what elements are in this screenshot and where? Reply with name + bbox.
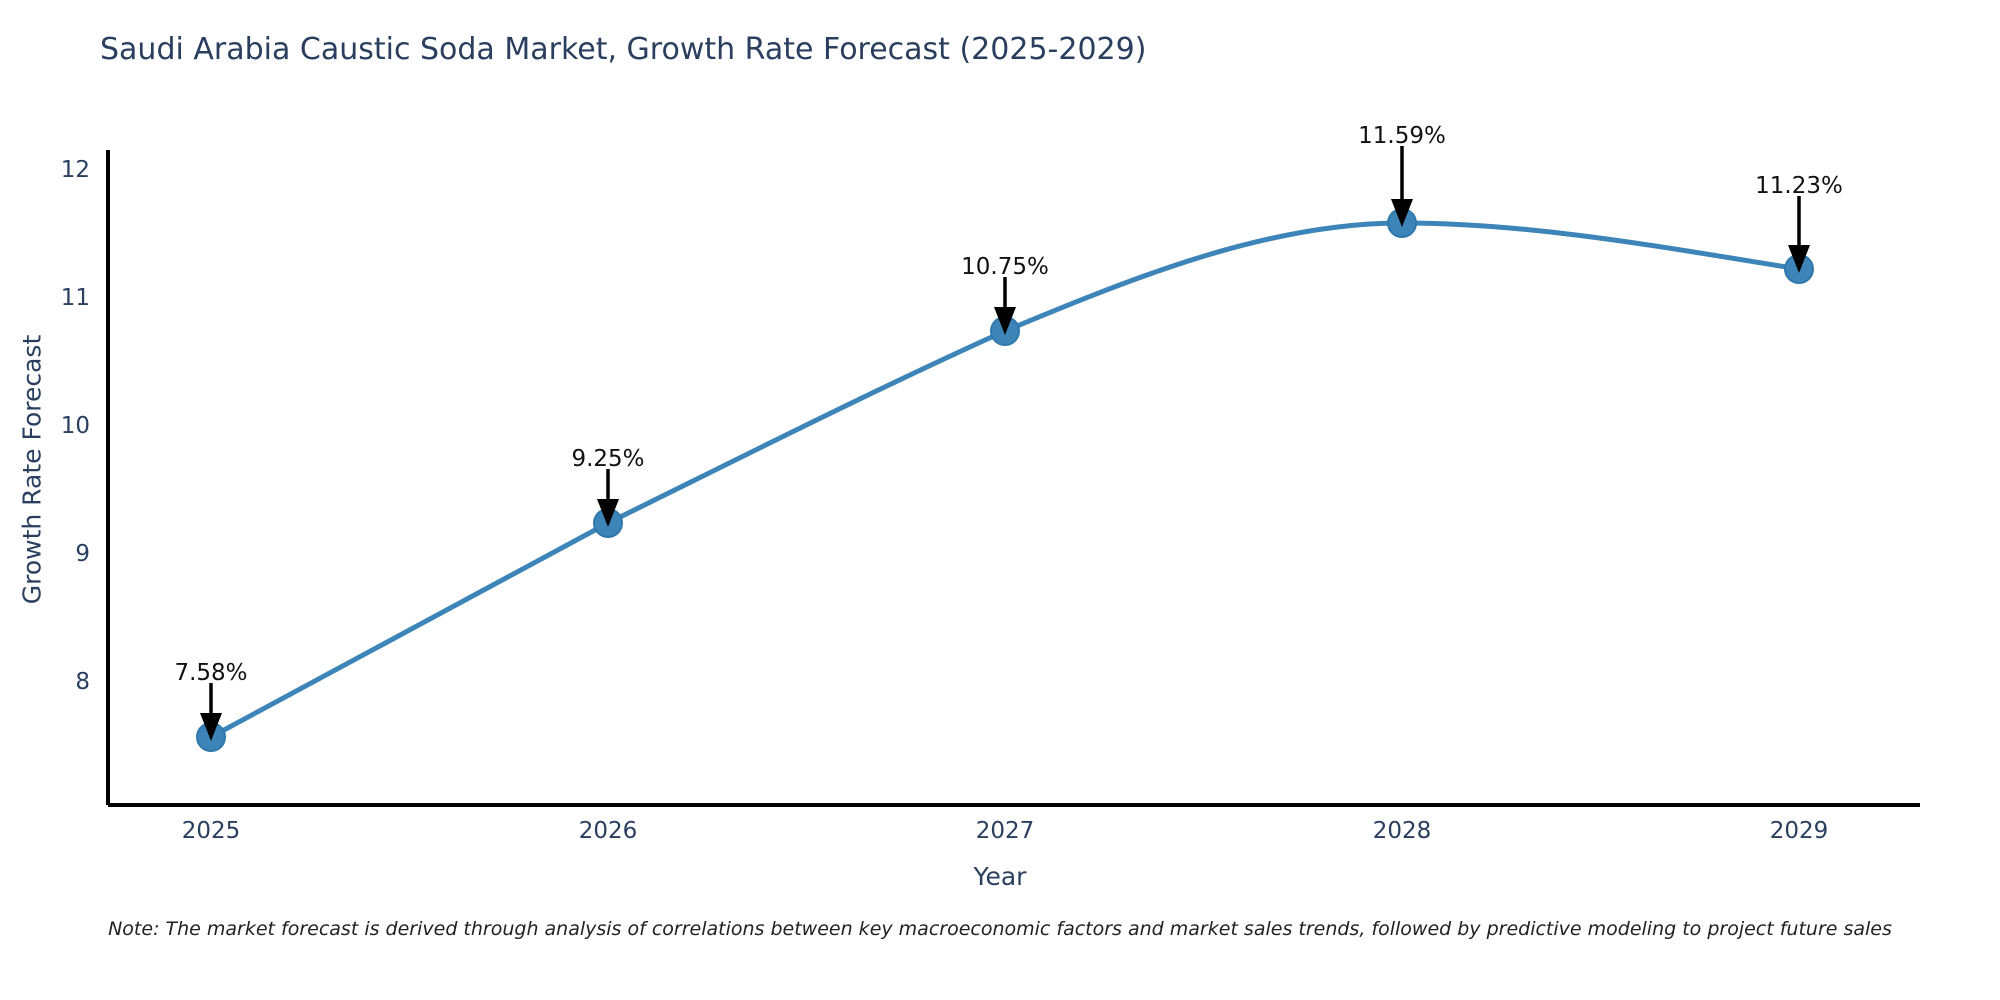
data-point-label: 11.59% [1358, 123, 1446, 149]
chart-figure: Saudi Arabia Caustic Soda Market, Growth… [0, 0, 2000, 1000]
x-axis-title: Year [0, 862, 2000, 891]
data-point-label: 9.25% [571, 446, 644, 472]
data-point-label: 10.75% [961, 254, 1049, 280]
data-point-label: 11.23% [1755, 173, 1843, 199]
data-point-label: 7.58% [174, 660, 247, 686]
chart-footnote: Note: The market forecast is derived thr… [0, 918, 2000, 940]
plot-area [0, 0, 2000, 1000]
